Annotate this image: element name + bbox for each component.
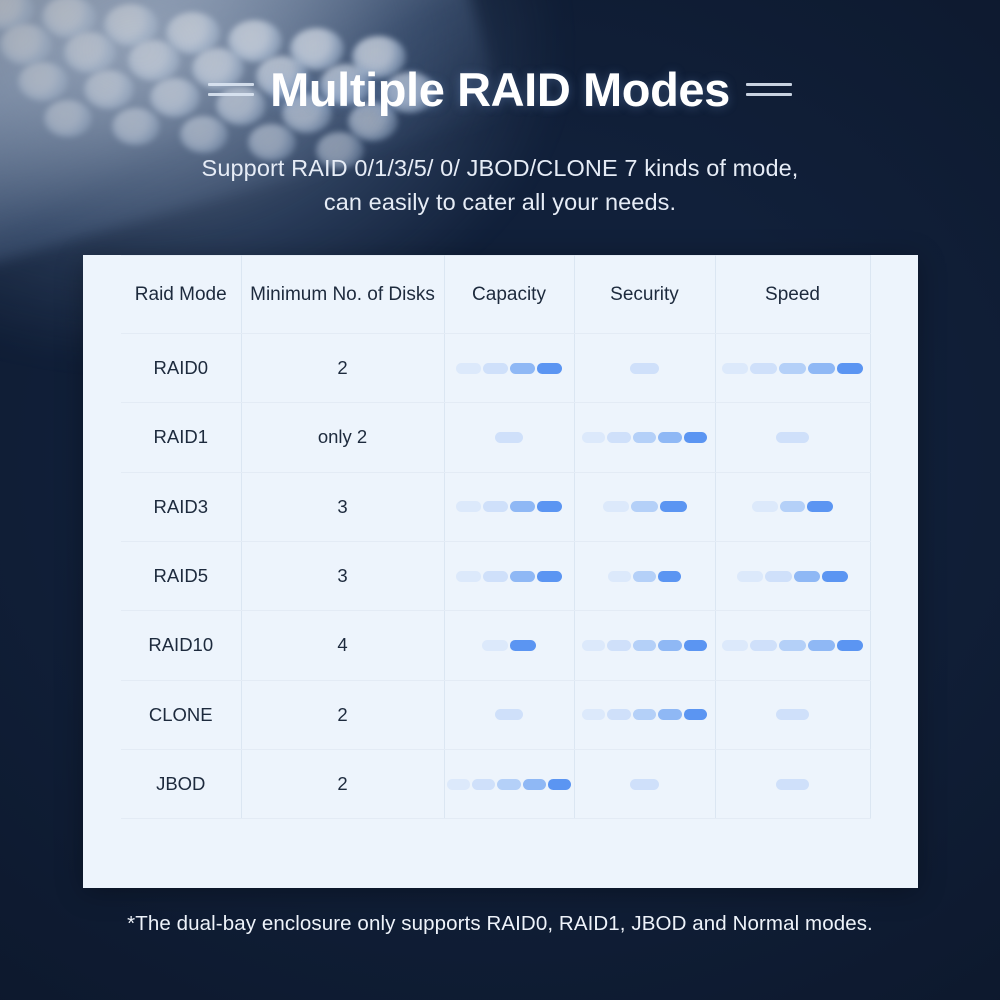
spacer-cell-left <box>83 472 121 541</box>
capacity-meter-segment <box>456 363 481 374</box>
capacity-meter-segment <box>483 363 508 374</box>
cell-security <box>574 472 715 541</box>
speed-meter-segment <box>780 501 805 512</box>
cell-raid-mode: RAID3 <box>121 472 241 541</box>
cell-speed <box>715 749 870 818</box>
security-meter <box>582 640 708 651</box>
security-meter-segment <box>607 432 631 443</box>
column-header-security: Security <box>574 256 715 334</box>
cell-capacity <box>444 611 574 680</box>
cell-min-disks: 2 <box>241 749 444 818</box>
security-meter-segment <box>608 571 631 582</box>
spacer-cell-left <box>83 403 121 472</box>
speed-meter-segment <box>808 363 835 374</box>
cell-min-disks: 2 <box>241 334 444 403</box>
subtitle-line-2: can easily to cater all your needs. <box>0 185 1000 219</box>
security-meter <box>608 571 681 582</box>
column-header-capacity: Capacity <box>444 256 574 334</box>
table-row: RAID33 <box>83 472 918 541</box>
capacity-meter-segment <box>537 363 562 374</box>
speed-meter-segment <box>752 501 777 512</box>
security-meter-segment <box>658 432 682 443</box>
cell-security <box>574 611 715 680</box>
security-meter <box>603 501 687 512</box>
security-meter-segment <box>582 640 606 651</box>
cell-raid-mode: RAID10 <box>121 611 241 680</box>
cell-security <box>574 541 715 610</box>
spacer-cell-left <box>83 541 121 610</box>
security-meter-segment <box>684 432 708 443</box>
padding-cell <box>715 819 870 888</box>
cell-capacity <box>444 403 574 472</box>
spacer-cell-left <box>83 611 121 680</box>
double-rule-icon-right <box>746 83 792 96</box>
table-head: Raid Mode Minimum No. of Disks Capacity … <box>83 256 918 334</box>
capacity-meter-segment <box>523 779 546 790</box>
cell-capacity <box>444 541 574 610</box>
spacer-cell-right <box>870 334 918 403</box>
spacer-cell-left <box>83 680 121 749</box>
cell-min-disks: 3 <box>241 541 444 610</box>
speed-meter-segment <box>808 640 835 651</box>
spacer-cell-right <box>870 749 918 818</box>
capacity-meter-segment <box>472 779 495 790</box>
raid-modes-card: Raid Mode Minimum No. of Disks Capacity … <box>83 255 918 888</box>
speed-meter-segment <box>750 363 777 374</box>
security-meter-segment <box>660 501 687 512</box>
security-meter-segment <box>607 709 631 720</box>
cell-capacity <box>444 334 574 403</box>
spacer-cell-left <box>83 749 121 818</box>
table-header-row: Raid Mode Minimum No. of Disks Capacity … <box>83 256 918 334</box>
capacity-meter-segment <box>497 779 520 790</box>
speed-meter-segment <box>776 432 808 443</box>
security-meter-segment <box>582 709 606 720</box>
security-meter <box>582 709 708 720</box>
spacer-cell-right <box>870 403 918 472</box>
spacer-cell-right <box>870 256 918 334</box>
capacity-meter-segment <box>495 432 522 443</box>
security-meter-segment <box>630 779 659 790</box>
table-body: RAID02RAID1only 2RAID33RAID53RAID104CLON… <box>83 334 918 889</box>
cell-min-disks: 2 <box>241 680 444 749</box>
security-meter-segment <box>603 501 630 512</box>
speed-meter-segment <box>722 363 749 374</box>
cell-capacity <box>444 749 574 818</box>
cell-speed <box>715 541 870 610</box>
cell-security <box>574 749 715 818</box>
capacity-meter-segment <box>483 501 508 512</box>
cell-security <box>574 334 715 403</box>
cell-min-disks: 4 <box>241 611 444 680</box>
cell-min-disks: only 2 <box>241 403 444 472</box>
capacity-meter <box>495 432 522 443</box>
column-header-speed: Speed <box>715 256 870 334</box>
speed-meter <box>752 501 832 512</box>
cell-security <box>574 680 715 749</box>
speed-meter <box>776 779 808 790</box>
speed-meter-segment <box>776 779 808 790</box>
security-meter-segment <box>630 363 659 374</box>
security-meter-segment <box>658 571 681 582</box>
padding-cell <box>121 819 241 888</box>
capacity-meter-segment <box>483 571 508 582</box>
speed-meter <box>722 363 864 374</box>
cell-raid-mode: CLONE <box>121 680 241 749</box>
security-meter-segment <box>631 501 658 512</box>
padding-cell <box>241 819 444 888</box>
speed-meter-segment <box>837 640 864 651</box>
speed-meter-segment <box>779 640 806 651</box>
spacer-cell-left <box>83 256 121 334</box>
capacity-meter-segment <box>456 571 481 582</box>
cell-raid-mode: RAID0 <box>121 334 241 403</box>
spacer-cell-right <box>870 472 918 541</box>
padding-cell <box>870 819 918 888</box>
speed-meter <box>776 709 808 720</box>
table-row: RAID02 <box>83 334 918 403</box>
speed-meter <box>776 432 808 443</box>
cell-raid-mode: RAID1 <box>121 403 241 472</box>
cell-speed <box>715 334 870 403</box>
capacity-meter-segment <box>510 363 535 374</box>
speed-meter-segment <box>807 501 832 512</box>
cell-raid-mode: RAID5 <box>121 541 241 610</box>
capacity-meter <box>456 363 562 374</box>
security-meter-segment <box>658 709 682 720</box>
spacer-cell-right <box>870 611 918 680</box>
padding-cell <box>83 819 121 888</box>
speed-meter-segment <box>794 571 820 582</box>
raid-modes-table: Raid Mode Minimum No. of Disks Capacity … <box>83 255 918 888</box>
cell-min-disks: 3 <box>241 472 444 541</box>
cell-security <box>574 403 715 472</box>
speed-meter-segment <box>837 363 864 374</box>
cell-speed <box>715 403 870 472</box>
capacity-meter-segment <box>537 501 562 512</box>
capacity-meter <box>482 640 536 651</box>
cell-capacity <box>444 680 574 749</box>
speed-meter-segment <box>722 640 749 651</box>
speed-meter-segment <box>737 571 763 582</box>
security-meter-segment <box>684 709 708 720</box>
table-row: RAID53 <box>83 541 918 610</box>
footnote: *The dual-bay enclosure only supports RA… <box>0 912 1000 936</box>
page-title: Multiple RAID Modes <box>270 62 730 117</box>
capacity-meter-segment <box>495 709 522 720</box>
spacer-cell-right <box>870 680 918 749</box>
security-meter-segment <box>582 432 606 443</box>
security-meter-segment <box>633 432 657 443</box>
capacity-meter-segment <box>510 640 536 651</box>
capacity-meter-segment <box>548 779 571 790</box>
cell-raid-mode: JBOD <box>121 749 241 818</box>
speed-meter <box>737 571 848 582</box>
padding-cell <box>574 819 715 888</box>
speed-meter-segment <box>750 640 777 651</box>
header: Multiple RAID Modes Support RAID 0/1/3/5… <box>0 62 1000 219</box>
security-meter-segment <box>684 640 708 651</box>
title-row: Multiple RAID Modes <box>0 62 1000 117</box>
security-meter-segment <box>633 640 657 651</box>
capacity-meter-segment <box>456 501 481 512</box>
speed-meter-segment <box>779 363 806 374</box>
spacer-cell-left <box>83 334 121 403</box>
capacity-meter-segment <box>537 571 562 582</box>
cell-capacity <box>444 472 574 541</box>
security-meter-segment <box>607 640 631 651</box>
subtitle: Support RAID 0/1/3/5/ 0/ JBOD/CLONE 7 ki… <box>0 151 1000 219</box>
capacity-meter <box>456 501 562 512</box>
security-meter-segment <box>633 709 657 720</box>
security-meter-segment <box>658 640 682 651</box>
speed-meter-segment <box>765 571 791 582</box>
double-rule-icon-left <box>208 83 254 96</box>
speed-meter-segment <box>776 709 808 720</box>
table-row: RAID104 <box>83 611 918 680</box>
cell-speed <box>715 611 870 680</box>
column-header-raid-mode: Raid Mode <box>121 256 241 334</box>
table-row: RAID1only 2 <box>83 403 918 472</box>
spacer-cell-right <box>870 541 918 610</box>
capacity-meter-segment <box>482 640 508 651</box>
table-row: JBOD2 <box>83 749 918 818</box>
capacity-meter <box>456 571 562 582</box>
capacity-meter-segment <box>510 571 535 582</box>
table-bottom-padding-row <box>83 819 918 888</box>
capacity-meter <box>495 709 522 720</box>
capacity-meter <box>447 779 571 790</box>
subtitle-line-1: Support RAID 0/1/3/5/ 0/ JBOD/CLONE 7 ki… <box>0 151 1000 185</box>
cell-speed <box>715 472 870 541</box>
cell-speed <box>715 680 870 749</box>
security-meter <box>582 432 708 443</box>
padding-cell <box>444 819 574 888</box>
capacity-meter-segment <box>447 779 470 790</box>
column-header-min-disks: Minimum No. of Disks <box>241 256 444 334</box>
security-meter <box>630 779 659 790</box>
speed-meter-segment <box>822 571 848 582</box>
capacity-meter-segment <box>510 501 535 512</box>
security-meter <box>630 363 659 374</box>
table-row: CLONE2 <box>83 680 918 749</box>
security-meter-segment <box>633 571 656 582</box>
speed-meter <box>722 640 864 651</box>
